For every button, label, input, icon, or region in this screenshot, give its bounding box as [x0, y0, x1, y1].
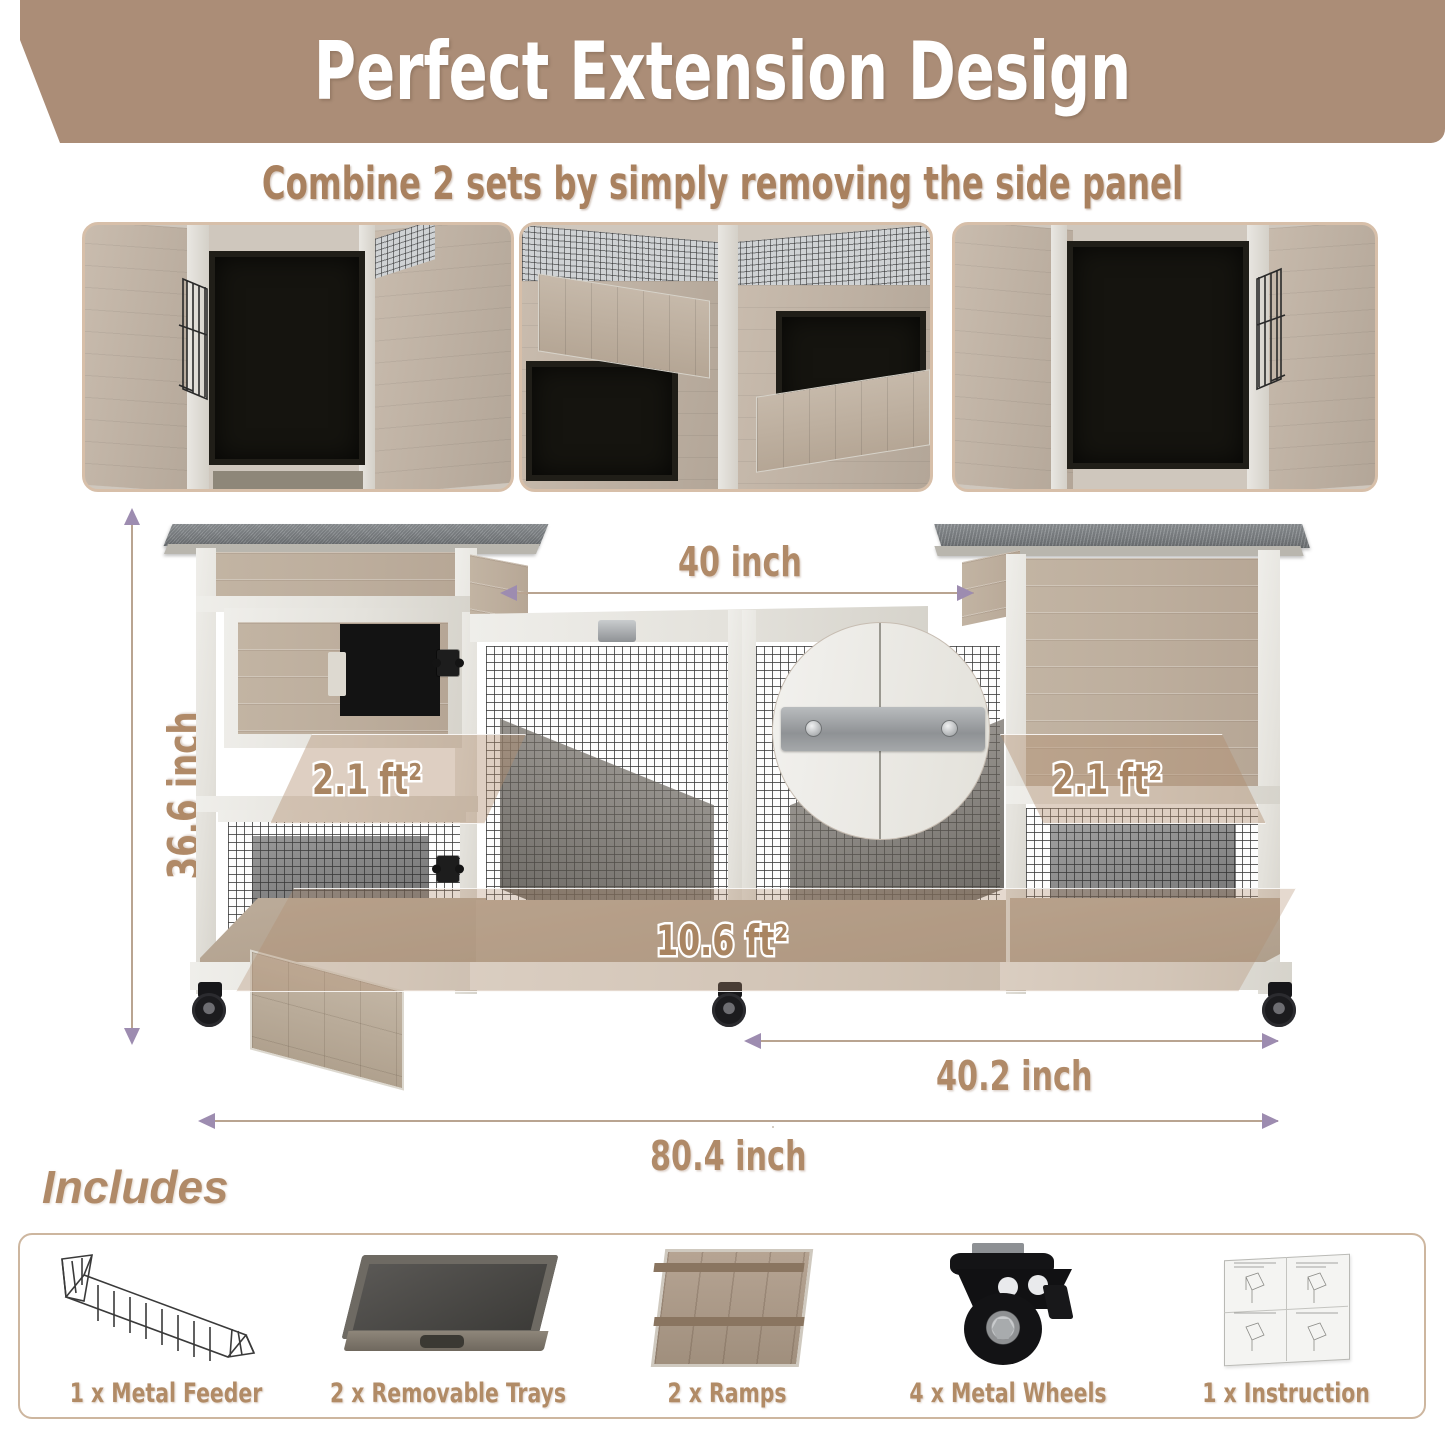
photo-content: [522, 225, 930, 489]
include-item-ramps: 2 x Ramps: [596, 1235, 858, 1417]
caster-left-front: [192, 982, 228, 1030]
metal-feeder-icon: [177, 273, 221, 413]
spacer-unused: [772, 1126, 774, 1128]
hinge-lower-left: [437, 856, 459, 882]
connector-plate-inset: [772, 622, 990, 840]
include-caption-metal-wheels: 4 x Metal Wheels: [884, 1378, 1133, 1409]
page-title: Perfect Extension Design: [145, 26, 1301, 118]
removable-tray: [1067, 241, 1249, 469]
photo-interior-left: [82, 222, 514, 492]
include-item-instruction: 1 x Instruction: [1158, 1235, 1414, 1417]
removable-tray: [209, 251, 365, 465]
arrow-head-up: [124, 508, 140, 525]
arrow-head-left-804: [198, 1113, 215, 1129]
dimension-label-40: 40 inch: [678, 538, 802, 586]
dimension-line-804: [212, 1120, 1278, 1122]
metal-feeder-icon: [1243, 261, 1289, 407]
include-item-removable-trays: 2 x Removable Trays: [302, 1235, 594, 1417]
page-subtitle: Combine 2 sets by simply removing the si…: [145, 158, 1301, 210]
arrow-head-right-804: [1262, 1113, 1279, 1129]
door-window-opening: [340, 624, 440, 716]
photo-content: [85, 225, 511, 489]
roof-left: [164, 524, 549, 546]
area-upper-left-label: 2.1 ft²: [270, 734, 568, 824]
area-lower-run-label: 10.6 ft²: [236, 888, 1445, 992]
photo-combined-middle: [519, 222, 933, 492]
roof-right: [934, 524, 1310, 548]
removable-tray-icon: [302, 1241, 594, 1369]
include-caption-instruction: 1 x Instruction: [1178, 1378, 1393, 1409]
includes-box: 1 x Metal Feeder 2 x Removable Trays 2 x…: [18, 1233, 1426, 1419]
center-divider-post: [718, 225, 738, 489]
include-item-metal-feeder: 1 x Metal Feeder: [32, 1235, 300, 1417]
arrow-head-right-402: [1262, 1033, 1279, 1049]
instruction-diagram: [1224, 1257, 1348, 1361]
dimension-label-402: 40.2 inch: [936, 1052, 1093, 1100]
area-lower-run: 10.6 ft²: [236, 888, 1296, 992]
area-upper-right: 2.1 ft²: [1000, 734, 1266, 824]
include-caption-removable-trays: 2 x Removable Trays: [325, 1378, 570, 1409]
metal-feeder-icon: [32, 1241, 300, 1369]
tray-left: [526, 361, 678, 481]
product-illustration: 36.6 inch: [0, 500, 1445, 1170]
frame-post-left: [1051, 225, 1067, 489]
dimension-label-804: 80.4 inch: [650, 1132, 807, 1180]
metal-wheel-icon: [860, 1241, 1156, 1369]
arrow-head-right-40: [957, 585, 974, 601]
include-caption-metal-feeder: 1 x Metal Feeder: [53, 1378, 278, 1409]
dimension-line-40: [514, 592, 974, 594]
include-caption-ramps: 2 x Ramps: [617, 1378, 837, 1409]
tray-edge: [213, 471, 363, 489]
instruction-icon: [1158, 1241, 1414, 1369]
dimension-line-402: [758, 1040, 1278, 1042]
include-item-metal-wheels: 4 x Metal Wheels: [860, 1235, 1156, 1417]
center-latch-hasp[interactable]: [598, 620, 636, 642]
photo-content: [955, 225, 1375, 489]
arrow-head-left-402: [744, 1033, 761, 1049]
area-upper-right-label: 2.1 ft²: [1000, 734, 1318, 824]
photo-strip: [0, 222, 1445, 492]
photo-interior-right: [952, 222, 1378, 492]
arrow-head-left-40: [500, 585, 517, 601]
area-upper-left: 2.1 ft²: [270, 734, 526, 824]
upper-door-left[interactable]: [224, 608, 462, 748]
includes-title: Includes: [42, 1160, 229, 1214]
arrow-head-down: [124, 1028, 140, 1045]
door-latch[interactable]: [328, 652, 346, 696]
dimension-line-height: [131, 522, 133, 1032]
hinge-upper-left: [437, 650, 459, 676]
roof-right-edge: [934, 546, 1303, 556]
ramp-icon: [596, 1241, 858, 1369]
frame-post-left-outer: [196, 548, 216, 994]
